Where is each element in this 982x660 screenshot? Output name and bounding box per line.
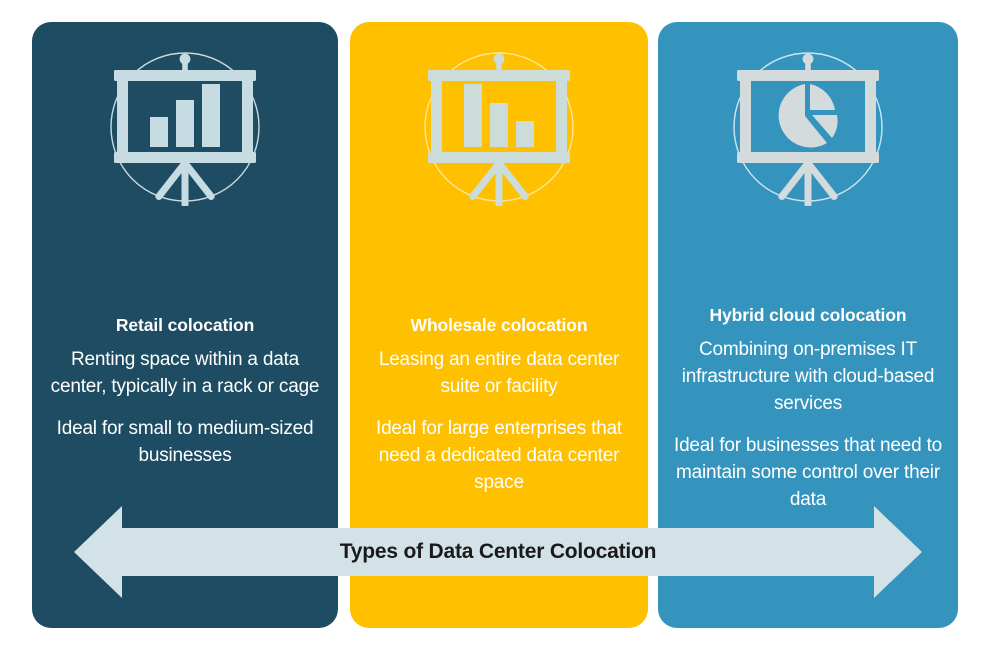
column-paragraph: Leasing an entire data center suite or f… [362,347,636,401]
column-body: Renting space within a data center, typi… [44,347,326,470]
presentation-bar-chart-descending-icon [404,32,594,222]
presentation-bar-chart-ascending-icon [90,32,280,222]
column-body: Leasing an entire data center suite or f… [362,347,636,497]
column-title: Hybrid cloud colocation [668,305,948,326]
column-paragraph: Ideal for businesses that need to mainta… [670,433,946,514]
infographic-canvas: Retail colocation Renting space within a… [0,0,982,660]
column-paragraph: Renting space within a data center, typi… [44,347,326,401]
banner-title: Types of Data Center Colocation [70,540,926,564]
column-body: Combining on-premises IT infrastructure … [670,337,946,514]
column-paragraph: Combining on-premises IT infrastructure … [670,337,946,418]
column-title: Retail colocation [42,315,328,336]
column-paragraph: Ideal for small to medium-sized business… [44,416,326,470]
column-paragraph: Ideal for large enterprises that need a … [362,416,636,497]
double-headed-arrow-icon: Types of Data Center Colocation [70,504,926,600]
presentation-pie-chart-icon [713,32,903,222]
column-title: Wholesale colocation [360,315,638,336]
